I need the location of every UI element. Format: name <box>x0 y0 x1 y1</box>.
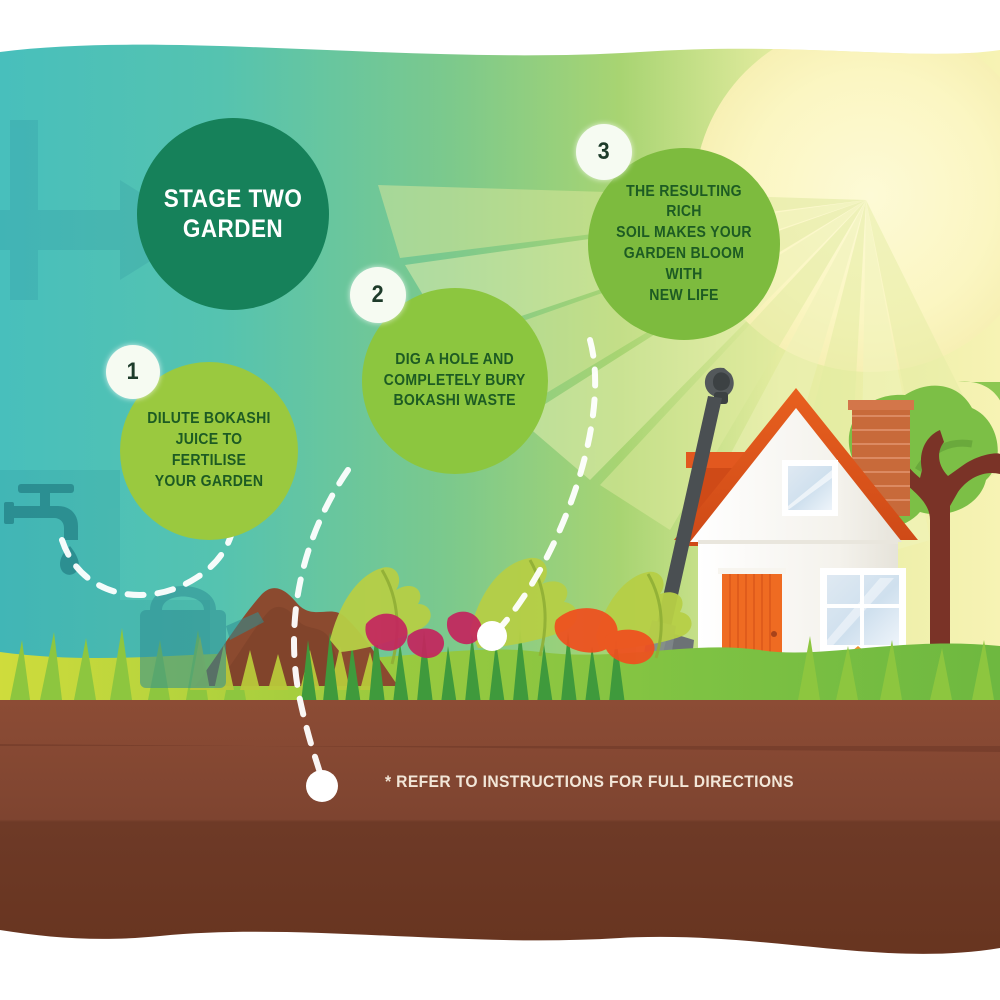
step-1-number: 1 <box>127 360 139 384</box>
step-2-number-badge: 2 <box>350 267 406 323</box>
step-2-number: 2 <box>372 283 384 307</box>
step-3-number-badge: 3 <box>576 124 632 180</box>
step-2-line-2: COMPLETELY BURY <box>384 371 526 392</box>
step-3-line-3: GARDEN BLOOM WITH <box>607 244 762 286</box>
stage-title-circle: STAGE TWO GARDEN <box>137 118 329 310</box>
step-3-number: 3 <box>598 140 610 164</box>
stage-title-line1: STAGE TWO <box>164 184 303 215</box>
step-2-line-3: BOKASHI WASTE <box>384 391 526 412</box>
footnote-text: * REFER TO INSTRUCTIONS FOR FULL DIRECTI… <box>385 772 735 792</box>
step-3-line-2: SOIL MAKES YOUR <box>607 223 762 244</box>
step-3-line-4: NEW LIFE <box>607 286 762 307</box>
step-3-line-1: THE RESULTING RICH <box>607 182 762 224</box>
step-2-line-1: DIG A HOLE AND <box>384 350 526 371</box>
step-1-line-2: JUICE TO FERTILISE <box>138 430 281 472</box>
step-1-line-3: YOUR GARDEN <box>138 472 281 493</box>
stage-title-line2: GARDEN <box>164 214 303 245</box>
step-1-line-1: DILUTE BOKASHI <box>138 409 281 430</box>
infographic-poster: STAGE TWO GARDEN DILUTE BOKASHI JUICE TO… <box>0 0 1000 1000</box>
step-1-number-badge: 1 <box>106 345 160 399</box>
